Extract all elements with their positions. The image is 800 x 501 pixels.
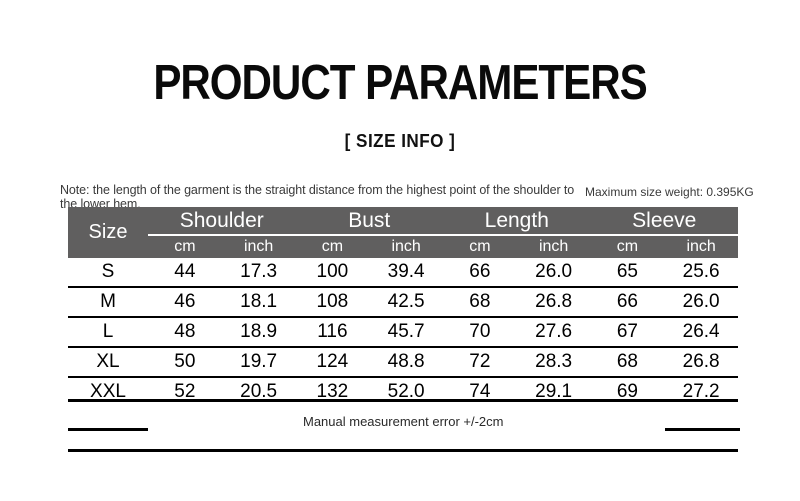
footer-rule-top bbox=[68, 399, 738, 402]
measurement-error-note: Manual measurement error +/-2cm bbox=[303, 414, 563, 429]
cell-length-cm: 68 bbox=[443, 287, 517, 317]
cell-length-cm: 70 bbox=[443, 317, 517, 347]
cell-shoulder-inch: 18.9 bbox=[222, 317, 296, 347]
header-unit-length-inch: inch bbox=[517, 235, 591, 258]
cell-shoulder-inch: 18.1 bbox=[222, 287, 296, 317]
cell-size: M bbox=[68, 287, 148, 317]
cell-shoulder-cm: 46 bbox=[148, 287, 222, 317]
cell-sleeve-cm: 67 bbox=[591, 317, 665, 347]
cell-sleeve-inch: 26.8 bbox=[664, 347, 738, 377]
cell-sleeve-inch: 25.6 bbox=[664, 258, 738, 287]
header-unit-sleeve-inch: inch bbox=[664, 235, 738, 258]
cell-shoulder-cm: 44 bbox=[148, 258, 222, 287]
cell-shoulder-cm: 48 bbox=[148, 317, 222, 347]
size-table-container: Size Shoulder Bust Length Sleeve cm inch… bbox=[68, 207, 738, 406]
header-unit-length-cm: cm bbox=[443, 235, 517, 258]
table-row: L 48 18.9 116 45.7 70 27.6 67 26.4 bbox=[68, 317, 738, 347]
header-group-bust: Bust bbox=[296, 207, 444, 235]
table-header-groups: Size Shoulder Bust Length Sleeve bbox=[68, 207, 738, 235]
page-subtitle: [ SIZE INFO ] bbox=[20, 130, 780, 152]
cell-bust-inch: 45.7 bbox=[369, 317, 443, 347]
table-header-units: cm inch cm inch cm inch cm inch bbox=[68, 235, 738, 258]
cell-bust-cm: 124 bbox=[296, 347, 370, 377]
cell-length-inch: 26.8 bbox=[517, 287, 591, 317]
cell-sleeve-cm: 66 bbox=[591, 287, 665, 317]
max-weight-note: Maximum size weight: 0.395KG bbox=[585, 186, 795, 200]
cell-length-cm: 66 bbox=[443, 258, 517, 287]
size-table-body: S 44 17.3 100 39.4 66 26.0 65 25.6 M 46 … bbox=[68, 258, 738, 406]
footer-rule-left bbox=[68, 428, 148, 431]
cell-length-inch: 26.0 bbox=[517, 258, 591, 287]
cell-bust-cm: 108 bbox=[296, 287, 370, 317]
cell-sleeve-cm: 68 bbox=[591, 347, 665, 377]
table-row: XL 50 19.7 124 48.8 72 28.3 68 26.8 bbox=[68, 347, 738, 377]
cell-bust-inch: 42.5 bbox=[369, 287, 443, 317]
cell-shoulder-inch: 17.3 bbox=[222, 258, 296, 287]
cell-bust-cm: 100 bbox=[296, 258, 370, 287]
header-unit-sleeve-cm: cm bbox=[591, 235, 665, 258]
cell-bust-inch: 48.8 bbox=[369, 347, 443, 377]
cell-length-cm: 72 bbox=[443, 347, 517, 377]
header-unit-shoulder-cm: cm bbox=[148, 235, 222, 258]
page-title: PRODUCT PARAMETERS bbox=[56, 57, 744, 109]
header-size: Size bbox=[68, 207, 148, 258]
cell-shoulder-inch: 19.7 bbox=[222, 347, 296, 377]
cell-size: S bbox=[68, 258, 148, 287]
table-row: S 44 17.3 100 39.4 66 26.0 65 25.6 bbox=[68, 258, 738, 287]
cell-sleeve-inch: 26.0 bbox=[664, 287, 738, 317]
table-row: M 46 18.1 108 42.5 68 26.8 66 26.0 bbox=[68, 287, 738, 317]
cell-sleeve-cm: 65 bbox=[591, 258, 665, 287]
cell-size: L bbox=[68, 317, 148, 347]
header-group-shoulder: Shoulder bbox=[148, 207, 296, 235]
header-unit-bust-cm: cm bbox=[296, 235, 370, 258]
cell-shoulder-cm: 50 bbox=[148, 347, 222, 377]
cell-size: XL bbox=[68, 347, 148, 377]
header-unit-bust-inch: inch bbox=[369, 235, 443, 258]
cell-length-inch: 28.3 bbox=[517, 347, 591, 377]
size-table: Size Shoulder Bust Length Sleeve cm inch… bbox=[68, 207, 738, 406]
cell-length-inch: 27.6 bbox=[517, 317, 591, 347]
cell-bust-cm: 116 bbox=[296, 317, 370, 347]
header-group-length: Length bbox=[443, 207, 591, 235]
cell-sleeve-inch: 26.4 bbox=[664, 317, 738, 347]
footer-rule-right bbox=[665, 428, 740, 431]
cell-bust-inch: 39.4 bbox=[369, 258, 443, 287]
header-unit-shoulder-inch: inch bbox=[222, 235, 296, 258]
footer-rule-bottom bbox=[68, 449, 738, 452]
header-group-sleeve: Sleeve bbox=[591, 207, 739, 235]
